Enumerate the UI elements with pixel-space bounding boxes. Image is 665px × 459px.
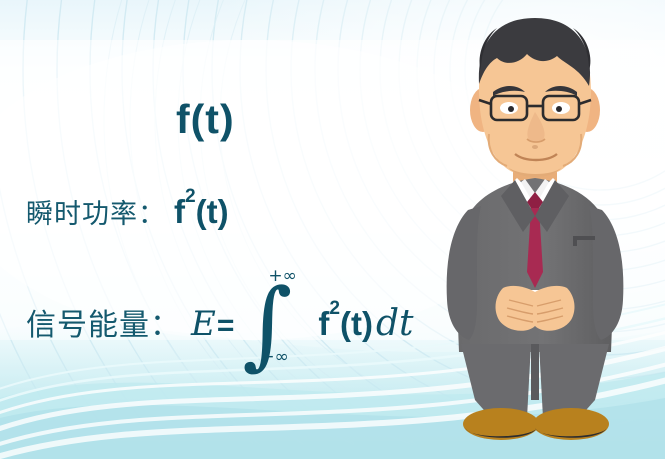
power-argument: (t) — [196, 193, 229, 230]
equals-sign: = — [217, 309, 235, 343]
integral-group: ∫ +∞ −∞ — [238, 334, 304, 335]
shoe-left — [463, 408, 539, 440]
instantaneous-power-label: 瞬时功率： — [26, 192, 166, 231]
arm-right — [589, 206, 623, 340]
signal-energy-label: 信号能量： — [26, 300, 181, 344]
trouser-left — [461, 344, 531, 418]
arm-left — [447, 206, 481, 340]
integrand-base: f — [318, 305, 329, 342]
trouser-inseam — [531, 344, 539, 400]
energy-variable: E — [191, 304, 216, 344]
integrand-exponent: 2 — [329, 298, 340, 319]
trouser-right — [539, 344, 609, 418]
equation-signal-function: f(t) — [176, 96, 235, 143]
power-exponent: 2 — [185, 186, 196, 207]
lecturer-character — [435, 0, 665, 459]
slide-canvas: f(t) 瞬时功率： f2(t) 信号能量： E = ∫ +∞ −∞ f2(t)… — [0, 0, 665, 459]
signal-function-expression: f(t) — [176, 96, 235, 143]
instantaneous-power-expression: f2(t) — [174, 193, 229, 231]
power-base: f — [174, 193, 185, 230]
philtrum-dot — [532, 145, 538, 149]
pupil-right — [556, 106, 562, 112]
equation-instantaneous-power: 瞬时功率： f2(t) — [26, 192, 229, 231]
shoe-right — [533, 408, 609, 440]
differential-dt: dt — [376, 303, 414, 344]
integral-upper-limit: +∞ — [268, 266, 296, 286]
pupil-left — [508, 106, 514, 112]
integrand-expression: f2(t) — [318, 305, 373, 343]
breast-pocket-edge — [573, 236, 577, 246]
equation-signal-energy: 信号能量： E = ∫ +∞ −∞ f2(t) dt — [26, 300, 413, 344]
integrand-argument: (t) — [340, 305, 373, 342]
integral-lower-limit: −∞ — [260, 347, 288, 367]
